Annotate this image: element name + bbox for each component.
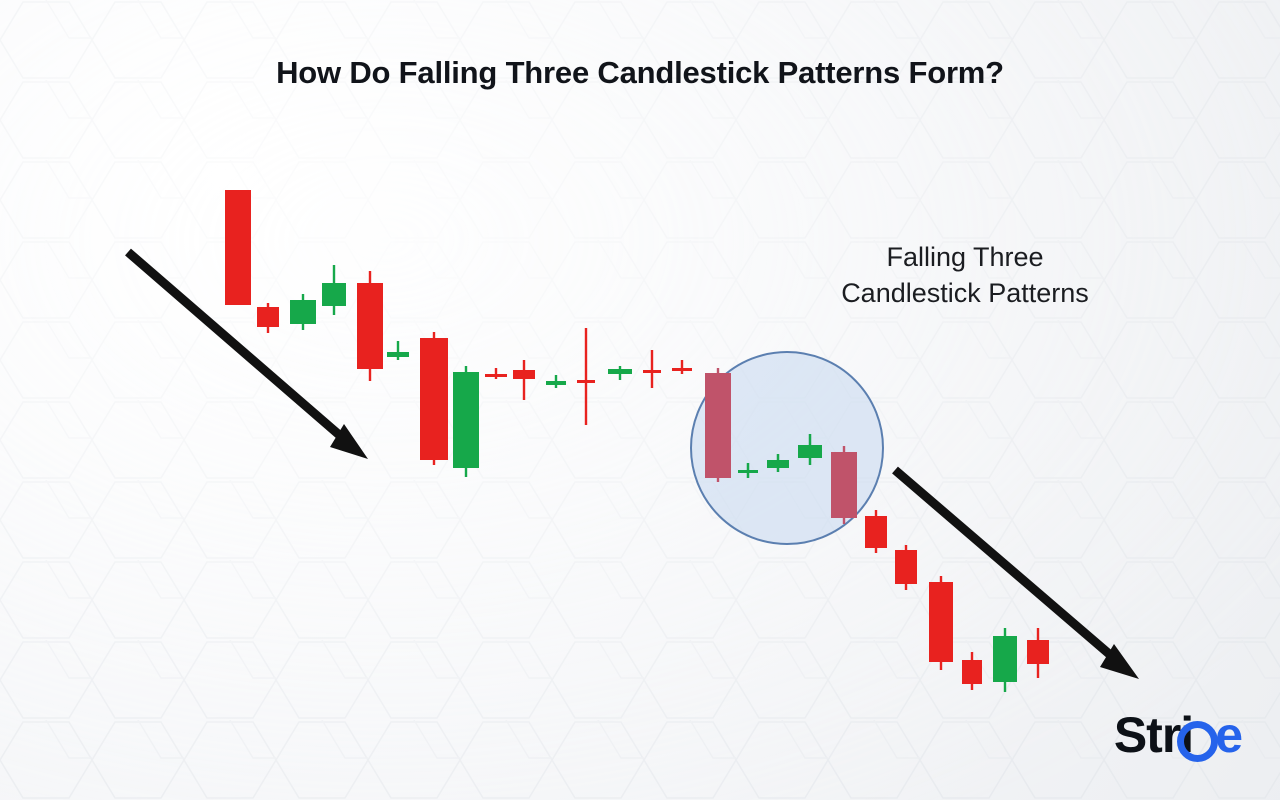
candle	[290, 294, 316, 330]
candle-body	[738, 470, 758, 473]
brand-text-after: e	[1215, 706, 1242, 764]
candle-body	[865, 516, 887, 548]
candle-body	[420, 338, 448, 460]
candle-body	[962, 660, 982, 684]
candle	[322, 265, 346, 315]
candlestick-chart	[0, 0, 1280, 800]
candle	[1027, 628, 1049, 678]
candle-body	[485, 374, 507, 377]
annotation-label: Falling Three Candlestick Patterns Falli…	[790, 240, 1140, 311]
candle	[420, 332, 448, 465]
candle	[993, 628, 1017, 692]
candle-body	[672, 368, 692, 371]
candle-body	[608, 369, 632, 374]
infographic-canvas: How Do Falling Three Candlestick Pattern…	[0, 0, 1280, 800]
candle-body	[225, 190, 251, 305]
brand-logo: Stri e	[1114, 706, 1242, 764]
candle	[577, 328, 595, 425]
candle-body	[322, 283, 346, 306]
candle-body	[453, 372, 479, 468]
candle-body	[357, 283, 383, 369]
candle	[831, 446, 857, 524]
candle	[962, 652, 982, 690]
candle	[546, 375, 566, 388]
annotation-text-line1: Falling Three	[790, 240, 1140, 276]
candle-body	[290, 300, 316, 324]
candle-body	[993, 636, 1017, 682]
candle-body	[577, 380, 595, 383]
candle	[387, 341, 409, 360]
candle-body	[705, 373, 731, 478]
annotation-text-line2: Candlestick Patterns	[790, 276, 1140, 312]
candle-body	[387, 352, 409, 357]
candle	[705, 368, 731, 482]
candle-body	[831, 452, 857, 518]
candle-body	[929, 582, 953, 662]
candle	[865, 510, 887, 553]
candle-body	[257, 307, 279, 327]
candle	[257, 303, 279, 333]
candle	[643, 350, 661, 388]
candle	[895, 545, 917, 590]
candle	[357, 271, 383, 381]
candle-body	[1027, 640, 1049, 664]
candle-body	[798, 445, 822, 458]
candle-body	[643, 370, 661, 373]
candle	[608, 366, 632, 380]
candle-body	[767, 460, 789, 468]
candle	[485, 368, 507, 379]
candle	[672, 360, 692, 374]
candle	[225, 190, 251, 305]
candle	[929, 576, 953, 670]
brand-ring-icon	[1177, 721, 1218, 762]
candle-body	[895, 550, 917, 584]
candle	[513, 360, 535, 400]
candle-body	[546, 381, 566, 385]
candle-body	[513, 370, 535, 379]
candle	[453, 366, 479, 477]
